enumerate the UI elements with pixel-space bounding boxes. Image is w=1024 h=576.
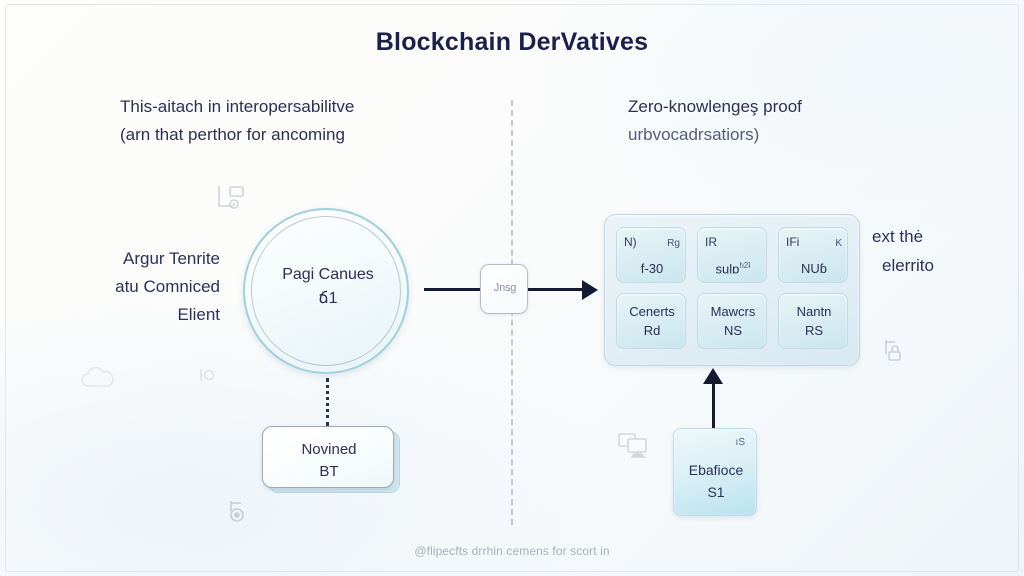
grid-cell-bottom-text: sulɒ (716, 261, 740, 276)
right-annotation-label: ext thė elerrito (872, 222, 1012, 280)
grid-cell-top-row: IFi K (786, 235, 842, 249)
left-label-line2: atu Comniced (40, 273, 220, 301)
grid-cell[interactable]: IFi K NUɓ (778, 227, 848, 283)
bottom-node-line1: Novined (263, 439, 395, 461)
grid-cell-line-b: NS (698, 323, 768, 338)
grid-cell-line-a: Nantn (779, 304, 849, 319)
subtitle-right-line1: Zero-knowlengeş proof (628, 97, 802, 116)
grid-cell[interactable]: Nantn RS (778, 293, 848, 349)
bottom-left-node[interactable]: Novined BT (262, 426, 394, 488)
arrow-segment-left (424, 288, 480, 291)
circle-node-line1: Pagi Canues (245, 263, 411, 287)
bottom-node-line2: BT (263, 461, 395, 483)
grid-cell-top-row: IR (705, 235, 761, 249)
right-label-line1: ext thė (872, 222, 1012, 251)
circle-node[interactable]: Pagi Canues ճ1 (243, 208, 409, 374)
left-annotation-label: Argur Tenrite atu Comniced Elient (40, 245, 220, 329)
blue-box-label: Ebafioce S1 (674, 459, 758, 504)
subtitle-left-line1: This-aitach in interopersabilitve (120, 97, 354, 116)
small-marker-icon (196, 364, 218, 391)
grid-cell[interactable]: Cenerts Rd (616, 293, 686, 349)
left-label-line3: Elient (40, 301, 220, 329)
grid-cell-top-row: N) Rg (624, 235, 680, 249)
grid-cell-line-a: Mawcrs (698, 304, 768, 319)
arrow-head-up-icon (703, 368, 723, 384)
left-label-line1: Argur Tenrite (40, 245, 220, 273)
grid-cell-bottom: sulɒh2ʇ (698, 261, 768, 276)
grid-cell-top-left: N) (624, 235, 637, 249)
grid-cell[interactable]: Mawcrs NS (697, 293, 767, 349)
blue-box-line2: S1 (674, 481, 758, 503)
grid-cell-bottom: f-30 (617, 261, 687, 276)
cloud-icon (78, 366, 120, 397)
bottom-left-node-label: Novined BT (263, 439, 395, 483)
grid-cell[interactable]: N) Rg f-30 (616, 227, 686, 283)
arrow-segment-right (528, 288, 584, 291)
grid-panel: N) Rg f-30 IR sulɒh2ʇ IFi K NUɓ Cenerts … (604, 214, 860, 366)
blue-box-superscript: ıS (736, 437, 745, 448)
network-node-icon (213, 180, 247, 219)
subtitle-right: Zero-knowlengeş proof urbvocadrsatiors) (628, 93, 968, 148)
grid-cell-line-b: RS (779, 323, 849, 338)
grid-cell-top-left: IR (705, 235, 717, 249)
circle-node-label: Pagi Canues ճ1 (245, 263, 411, 311)
right-label-line2: elerrito (872, 251, 1012, 280)
circle-node-line2: ճ1 (245, 287, 411, 311)
blue-box-line1: Ebafioce (674, 459, 758, 481)
grid-cell-top-right: K (835, 238, 842, 249)
footer-caption: @flipecfts drrhin cemens for scort in (0, 544, 1024, 558)
grid-cell-line-a: Cenerts (617, 304, 687, 319)
subtitle-left: This-aitach in interopersabilitve (arn t… (120, 93, 480, 148)
blue-source-box[interactable]: ıS Ebafioce S1 (673, 428, 757, 516)
dotted-connector (326, 378, 329, 426)
grid-cell[interactable]: IR sulɒh2ʇ (697, 227, 767, 283)
arrow-segment-up (712, 382, 715, 428)
grid-cell-bottom: NUɓ (779, 261, 849, 276)
grid-cell-top-right: Rg (667, 238, 680, 249)
lock-node-icon (880, 336, 908, 369)
camera-node-icon (224, 496, 254, 531)
monitor-screen-icon (616, 430, 652, 467)
diagram-canvas: Blockchain DerVatives This-aitach in int… (0, 0, 1024, 576)
arrow-midpoint-label: Jnsg (481, 282, 529, 294)
grid-cell-bottom-sup: h2ʇ (739, 261, 750, 270)
subtitle-left-line2: (arn that perthor for ancoming (120, 121, 480, 149)
arrow-midpoint-box[interactable]: Jnsg (480, 264, 528, 314)
page-title: Blockchain DerVatives (0, 28, 1024, 57)
subtitle-right-line2: urbvocadrsatiors) (628, 121, 968, 149)
grid-cell-top-left: IFi (786, 235, 799, 249)
grid-cell-line-b: Rd (617, 323, 687, 338)
arrow-head-right-icon (582, 280, 598, 300)
